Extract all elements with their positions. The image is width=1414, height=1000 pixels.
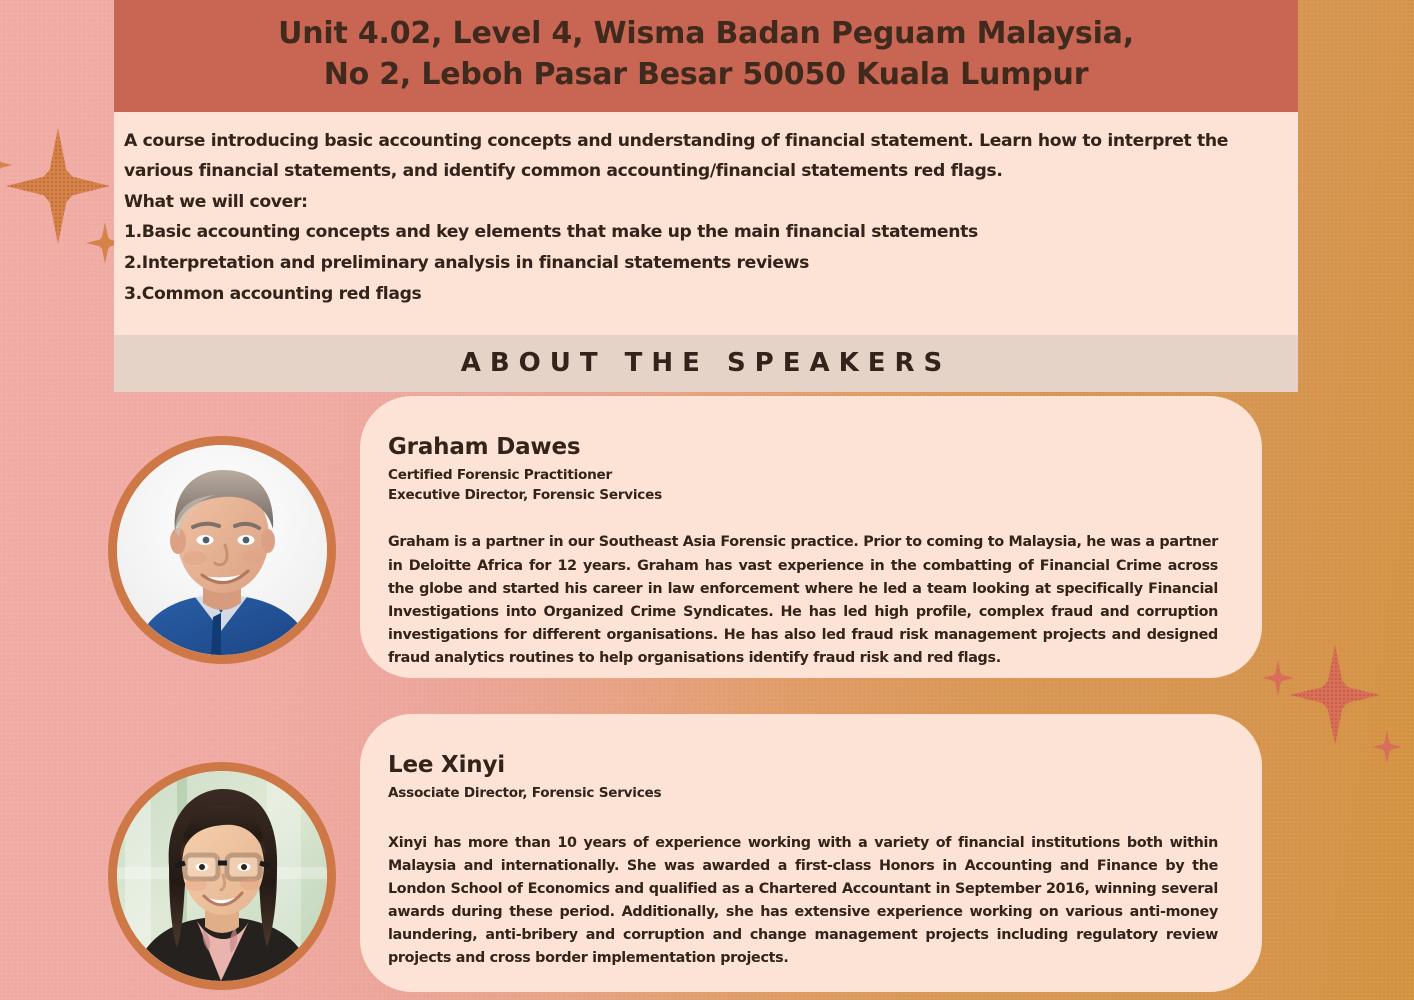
speaker-bio: Graham is a partner in our Southeast Asi… — [388, 531, 1218, 670]
speaker-card: Lee Xinyi Associate Director, Forensic S… — [360, 714, 1262, 992]
four-point-star-sparkle-icon — [1290, 645, 1380, 745]
course-item-2: 2.Interpretation and preliminary analysi… — [124, 248, 1290, 279]
course-item-3: 3.Common accounting red flags — [124, 279, 1290, 310]
address-line-2: No 2, Leboh Pasar Besar 50050 Kuala Lump… — [154, 55, 1258, 96]
about-the-speakers-band: ABOUT THE SPEAKERS — [114, 335, 1298, 392]
course-intro-text: A course introducing basic accounting co… — [124, 126, 1290, 187]
speaker-name: Graham Dawes — [388, 434, 1218, 460]
avatar — [108, 436, 336, 664]
headshot-photo-female-speaker — [117, 771, 327, 981]
speaker-name: Lee Xinyi — [388, 752, 1218, 778]
poster-top-block: Unit 4.02, Level 4, Wisma Badan Peguam M… — [114, 0, 1298, 392]
address-line-1: Unit 4.02, Level 4, Wisma Badan Peguam M… — [154, 14, 1258, 55]
course-cover-heading: What we will cover: — [124, 187, 1290, 218]
headshot-photo-male-speaker — [117, 445, 327, 655]
course-description-panel: A course introducing basic accounting co… — [114, 112, 1298, 336]
speaker-title-line-1: Associate Director, Forensic Services — [388, 784, 1218, 804]
venue-address-header: Unit 4.02, Level 4, Wisma Badan Peguam M… — [114, 0, 1298, 112]
speaker-bio: Xinyi has more than 10 years of experien… — [388, 832, 1218, 971]
about-the-speakers-label: ABOUT THE SPEAKERS — [461, 348, 952, 378]
speaker-card: Graham Dawes Certified Forensic Practiti… — [360, 396, 1262, 678]
speaker-title-line-2: Executive Director, Forensic Services — [388, 486, 1218, 506]
speaker-2-photo — [117, 771, 327, 981]
course-item-1: 1.Basic accounting concepts and key elem… — [124, 217, 1290, 248]
avatar — [108, 762, 336, 990]
four-point-star-sparkle-icon — [1372, 730, 1402, 764]
speaker-title-line-1: Certified Forensic Practitioner — [388, 466, 1218, 486]
speaker-1-photo — [117, 445, 327, 655]
